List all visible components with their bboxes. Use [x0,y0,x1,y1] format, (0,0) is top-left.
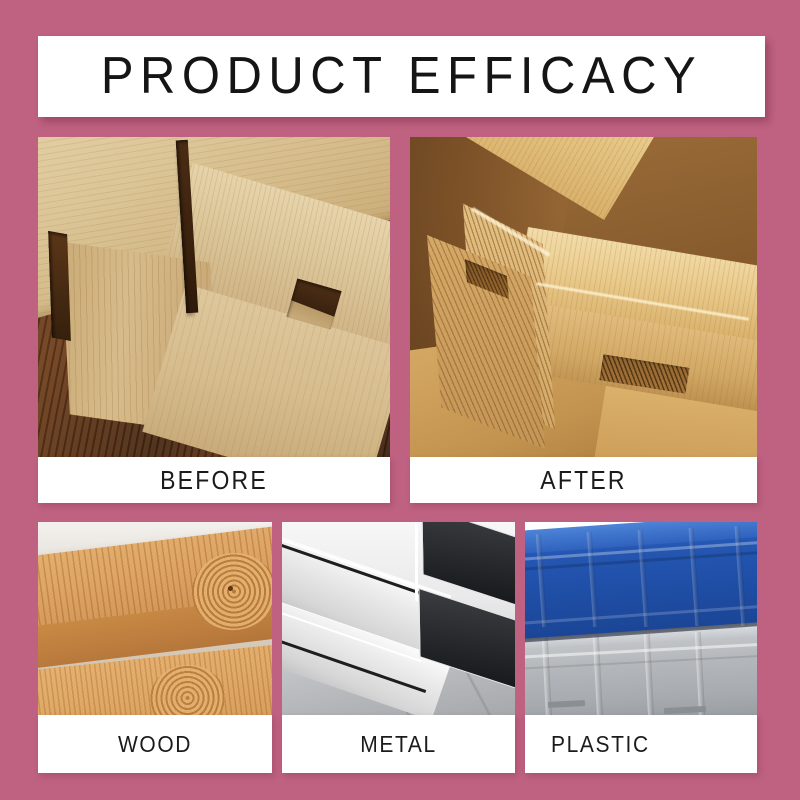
plastic-label: PLASTIC [551,732,650,756]
title-banner: PRODUCT EFFICACY [38,36,765,117]
before-panel: BEFORE [38,137,390,503]
finished-wood-frame-corner-photo [410,137,757,457]
plastic-label-plate: PLASTIC [525,715,757,773]
before-label-plate: BEFORE [38,457,390,503]
before-label: BEFORE [160,467,268,493]
stacked-pine-lumber-photo [38,522,272,715]
metal-label-plate: METAL [282,715,515,773]
plastic-panel: PLASTIC [525,522,757,773]
metal-label: METAL [360,732,436,756]
metal-panel: METAL [282,522,515,773]
wood-label-plate: WOOD [38,715,272,773]
stainless-steel-tubes-photo [282,522,515,715]
wood-knot [228,586,233,591]
product-efficacy-poster: PRODUCT EFFICACY BEFORE [0,0,800,800]
after-panel: AFTER [410,137,757,503]
tube-corner-highlight [415,523,418,601]
after-label-plate: AFTER [410,457,757,503]
after-label: AFTER [540,467,626,493]
page-title: PRODUCT EFFICACY [101,51,702,103]
plastic-storage-crates-photo [525,522,757,715]
wood-label: WOOD [118,732,192,756]
raw-wood-box-corner-joint-photo [38,137,390,457]
wood-panel: WOOD [38,522,272,773]
